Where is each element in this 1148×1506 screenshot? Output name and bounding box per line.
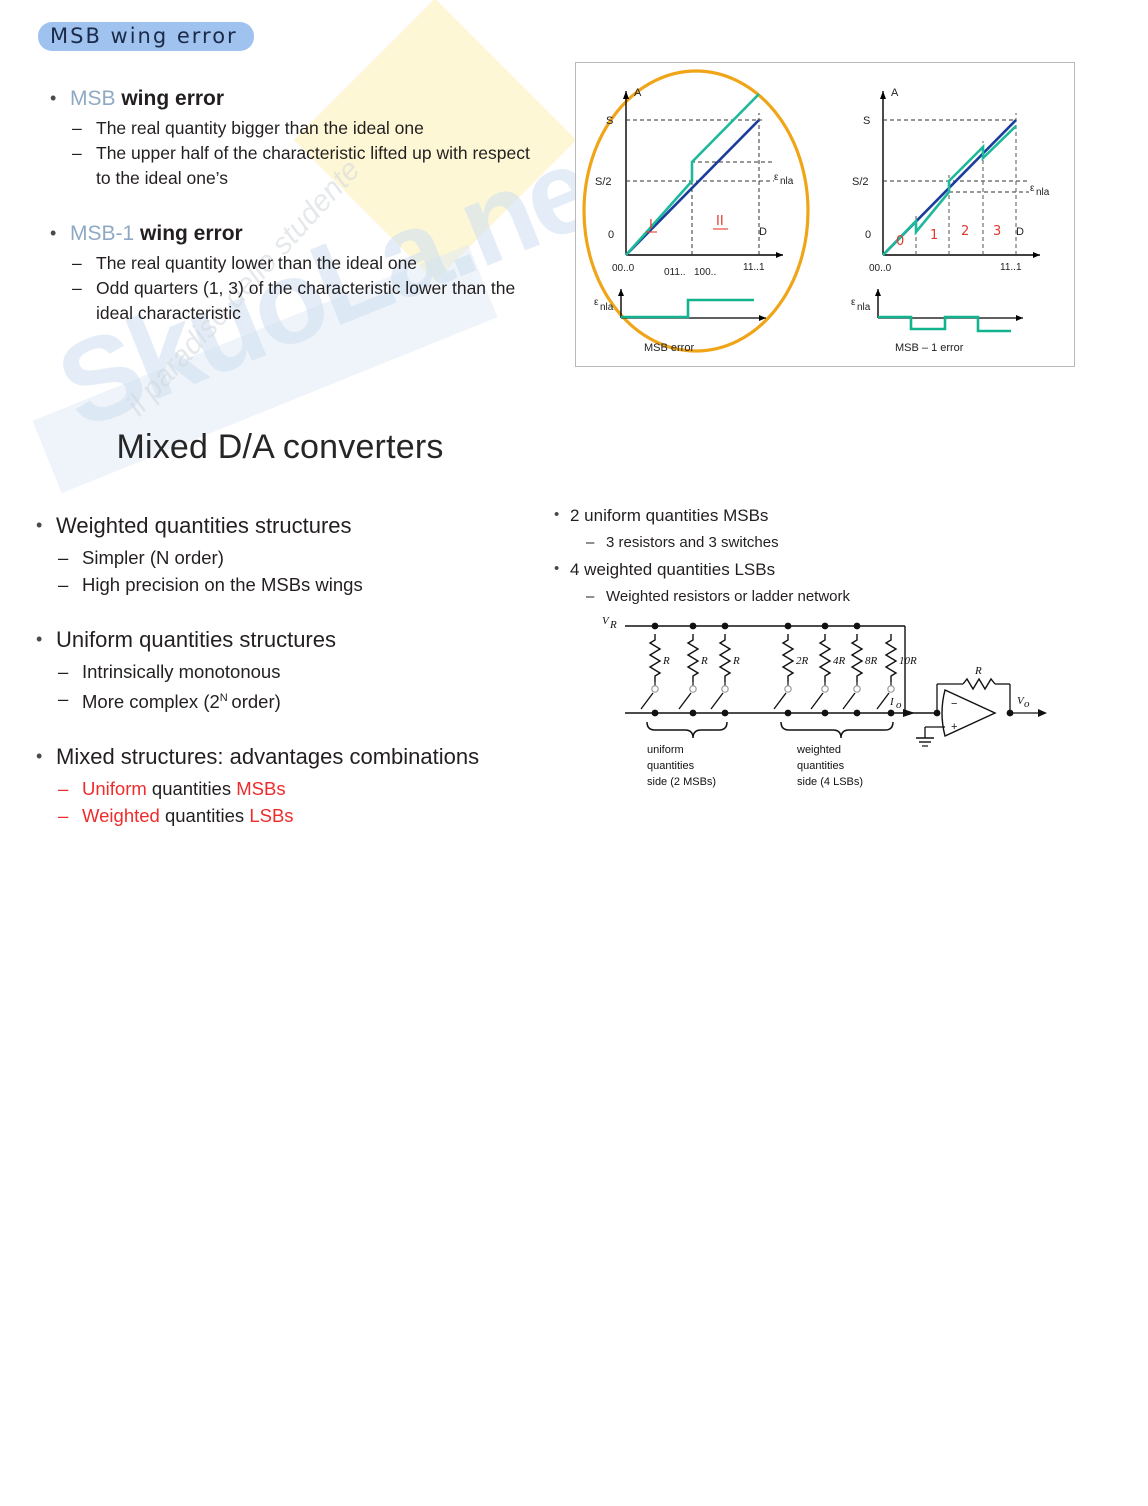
switch-blade[interactable] xyxy=(679,693,691,709)
ideal-line xyxy=(626,120,759,255)
node-dot xyxy=(652,710,659,717)
sublist: 3 resistors and 3 switches xyxy=(570,531,966,555)
annotation-quarter-3: 3 xyxy=(993,224,1001,239)
uniform-caption-line-2: quantities xyxy=(647,760,695,772)
resistor-weighted-2 xyxy=(820,634,830,682)
switch-contact[interactable] xyxy=(888,686,894,692)
list-item-weighted-lsbs: Weighted quantities LSBs xyxy=(56,802,560,829)
svg-text:ε: ε xyxy=(594,297,599,308)
resistor-weighted-3-label: 8R xyxy=(865,655,878,667)
annotation-quarter-2: II xyxy=(716,214,724,229)
bullet-msb1-sublist: The real quantity lower than the ideal o… xyxy=(70,251,544,326)
x-axis-arrow xyxy=(1033,252,1040,258)
word-lsbs: LSBs xyxy=(249,805,293,826)
switch-blade[interactable] xyxy=(774,693,786,709)
svg-text:ε: ε xyxy=(1030,183,1035,194)
bullet-msb-accent: MSB xyxy=(70,87,116,110)
weighted-branch-1: 2R xyxy=(774,623,809,717)
error-trace xyxy=(878,317,1011,331)
vout-subscript: o xyxy=(1024,698,1030,710)
resistor-weighted-4 xyxy=(886,634,896,682)
bullet-label: 2 uniform quantities MSBs xyxy=(570,506,768,525)
node-dot xyxy=(785,623,792,630)
left-content-column: Weighted quantities structures Simpler (… xyxy=(30,510,560,855)
uniform-branch-3: R xyxy=(711,623,740,717)
uniform-caption-line-1: uniform xyxy=(647,744,684,756)
error-y-arrow xyxy=(618,289,624,296)
bullet-msb1-rest: wing error xyxy=(134,222,243,245)
ytick-Shalf: S/2 xyxy=(852,176,869,188)
svg-text:nla: nla xyxy=(1036,187,1050,198)
highlight-ellipse xyxy=(584,71,808,351)
weighted-branch-2: 4R xyxy=(811,623,846,717)
resistor-uniform-3 xyxy=(720,634,730,682)
mixed-dac-circuit-diagram: V R I o R R R 2R xyxy=(585,612,1055,817)
node-dot xyxy=(690,623,697,630)
resistor-weighted-4-label: 10R xyxy=(899,655,917,667)
bullet-msb: MSB wing error The real quantity bigger … xyxy=(44,84,544,191)
bullet-msb-sublist: The real quantity bigger than the ideal … xyxy=(70,116,544,191)
xtick-2: 100.. xyxy=(694,267,716,278)
xtick-0: 00..0 xyxy=(869,263,892,274)
mixed-sublist: Uniform quantities MSBs Weighted quantit… xyxy=(56,775,560,829)
op-amp-inverting-input: − xyxy=(951,698,957,710)
xtick-1: 11..1 xyxy=(1000,262,1022,273)
bullet-4-weighted-lsbs: 4 weighted quantities LSBs Weighted resi… xyxy=(546,557,966,609)
charts-svg: A D S S/2 0 ε nla I II 00..0 011.. 100..… xyxy=(576,63,1074,366)
spacer xyxy=(44,193,544,219)
svg-text:nla: nla xyxy=(857,302,871,313)
switch-contact[interactable] xyxy=(652,686,658,692)
node-dot xyxy=(888,710,895,717)
weighted-caption-line-1: weighted xyxy=(796,744,841,756)
error-axis-label: ε nla xyxy=(851,297,871,313)
error-x-arrow xyxy=(1016,315,1023,321)
uniform-branch-2: R xyxy=(679,623,708,717)
resistor-weighted-1-label: 2R xyxy=(796,655,809,667)
svg-text:ε: ε xyxy=(851,297,856,308)
ytick-zero: 0 xyxy=(865,229,871,241)
word-quantities: quantities xyxy=(147,778,236,799)
switch-contact[interactable] xyxy=(822,686,828,692)
epsilon-nla-label-chart1: ε nla xyxy=(774,172,794,187)
bullet-msb1: MSB-1 wing error The real quantity lower… xyxy=(44,219,544,326)
error-subplot-msb1: ε nla MSB – 1 error xyxy=(851,289,1023,354)
uniform-branch-1: R xyxy=(641,623,670,717)
switch-contact[interactable] xyxy=(722,686,728,692)
bullet-label: Mixed structures: advantages combination… xyxy=(56,744,479,769)
vref-label: V R xyxy=(602,615,617,631)
list-item: Weighted resistors or ladder network xyxy=(570,585,966,609)
bullet-mixed-structures: Mixed structures: advantages combination… xyxy=(30,741,560,829)
ytick-S: S xyxy=(863,115,870,127)
iout-label: I o xyxy=(889,696,902,711)
node-dot xyxy=(822,710,829,717)
error-y-arrow xyxy=(875,289,881,296)
word-uniform: Uniform xyxy=(82,778,147,799)
y-axis-arrow xyxy=(880,91,886,99)
weighted-branch-3: 8R xyxy=(843,623,878,717)
list-item-uniform-msbs: Uniform quantities MSBs xyxy=(56,775,560,802)
error-subplot-msb: ε nla MSB error xyxy=(594,289,766,354)
resistor-uniform-1 xyxy=(650,634,660,682)
resistor-weighted-3 xyxy=(852,634,862,682)
weighted-caption-line-2: quantities xyxy=(797,760,845,772)
op-amp-triangle xyxy=(942,690,995,736)
list-item: 3 resistors and 3 switches xyxy=(570,531,966,555)
heading-highlight: MSB wing error xyxy=(38,22,254,51)
chart-caption-2: MSB – 1 error xyxy=(895,342,964,354)
vref-letter: V xyxy=(602,615,610,627)
xtick-3: 11..1 xyxy=(743,262,765,273)
circuit-svg: V R I o R R R 2R xyxy=(585,612,1055,817)
weighted-list: Weighted quantities structures Simpler (… xyxy=(30,510,560,598)
x-axis-label: D xyxy=(759,226,767,238)
annotation-quarter-2: 2 xyxy=(961,224,969,239)
group-weighted: Weighted quantities structures Simpler (… xyxy=(30,510,560,598)
resistor-uniform-2 xyxy=(688,634,698,682)
node-dot xyxy=(722,623,729,630)
error-trace xyxy=(621,300,754,317)
bullet-msb-rest: wing error xyxy=(116,87,225,110)
error-characteristics-figure: A D S S/2 0 ε nla I II 00..0 011.. 100..… xyxy=(575,62,1075,367)
current-arrow xyxy=(903,709,915,717)
resistor-uniform-2-label: R xyxy=(700,655,708,667)
iout-letter: I xyxy=(889,696,895,708)
right-list: 2 uniform quantities MSBs 3 resistors an… xyxy=(546,503,966,609)
annotation-quarter-0: 0 xyxy=(896,234,904,249)
resistor-uniform-3-label: R xyxy=(732,655,740,667)
handwritten-heading-text: MSB wing error xyxy=(50,24,238,48)
bullet-label: Weighted quantities structures xyxy=(56,513,352,538)
mixed-list: Mixed structures: advantages combination… xyxy=(30,741,560,829)
list-item: The real quantity lower than the ideal o… xyxy=(70,251,544,276)
chart-caption-1: MSB error xyxy=(644,342,694,354)
switch-blade[interactable] xyxy=(877,693,889,709)
group-uniform: Uniform quantities structures Intrinsica… xyxy=(30,624,560,715)
weighted-caption-line-3: side (4 LSBs) xyxy=(797,776,863,788)
node-dot xyxy=(854,623,861,630)
switch-blade[interactable] xyxy=(811,693,823,709)
list-item: The real quantity bigger than the ideal … xyxy=(70,116,544,141)
epsilon-nla-sub: nla xyxy=(780,176,794,187)
bullet-weighted-structures: Weighted quantities structures Simpler (… xyxy=(30,510,560,598)
vref-subscript: R xyxy=(609,619,617,631)
switch-blade[interactable] xyxy=(843,693,855,709)
y-axis-arrow xyxy=(623,91,629,99)
resistor-weighted-2-label: 4R xyxy=(833,655,846,667)
weighted-sublist: Simpler (N order) High precision on the … xyxy=(56,544,560,598)
vout-label: V o xyxy=(1017,695,1030,710)
list-item: The upper half of the characteristic lif… xyxy=(70,141,544,191)
resistor-weighted-1 xyxy=(783,634,793,682)
y-axis-label: A xyxy=(634,87,642,99)
list-item: Simpler (N order) xyxy=(56,544,560,571)
chart-msb1-error: A D S S/2 0 ε nla 0 1 2 3 00..0 11..1 xyxy=(851,87,1050,354)
weighted-caption: weighted quantities side (4 LSBs) xyxy=(796,744,863,788)
iout-subscript: o xyxy=(896,699,902,711)
list-item: High precision on the MSBs wings xyxy=(56,571,560,598)
word-quantities: quantities xyxy=(160,805,249,826)
list-item-complex: More complex (2N order) xyxy=(56,685,560,715)
page-title: Mixed D/A converters xyxy=(0,428,560,467)
handwritten-heading: MSB wing error xyxy=(38,22,254,51)
switch-contact[interactable] xyxy=(854,686,860,692)
ytick-S: S xyxy=(606,115,613,127)
x-axis-arrow xyxy=(776,252,783,258)
node-dot xyxy=(652,623,659,630)
word-msbs: MSBs xyxy=(236,778,285,799)
right-content-column: 2 uniform quantities MSBs 3 resistors an… xyxy=(546,503,966,611)
switch-blade[interactable] xyxy=(641,693,653,709)
bullet-label: 4 weighted quantities LSBs xyxy=(570,560,775,579)
list-item: Odd quarters (1, 3) of the characteristi… xyxy=(70,276,544,326)
bullet-uniform-structures: Uniform quantities structures Intrinsica… xyxy=(30,624,560,715)
resistor-feedback-label: R xyxy=(974,665,982,677)
xtick-0: 00..0 xyxy=(612,263,635,274)
brace-weighted xyxy=(781,722,893,738)
node-dot xyxy=(822,623,829,630)
annotation-quarter-1: I xyxy=(649,218,653,233)
bullet-2-uniform-msbs: 2 uniform quantities MSBs 3 resistors an… xyxy=(546,503,966,555)
xtick-1: 011.. xyxy=(664,267,686,278)
uniform-caption: uniform quantities side (2 MSBs) xyxy=(647,744,716,788)
ytick-Shalf: S/2 xyxy=(595,176,612,188)
superscript-n: N xyxy=(220,692,228,704)
epsilon-nla-label-chart2: ε nla xyxy=(1030,183,1050,198)
top-bullet-list: MSB wing error The real quantity bigger … xyxy=(44,84,544,326)
resistor-feedback xyxy=(963,679,995,689)
uniform-sublist: Intrinsically monotonous More complex (2… xyxy=(56,658,560,715)
node-dot xyxy=(690,710,697,717)
x-axis-label: D xyxy=(1016,226,1024,238)
brace-uniform xyxy=(647,722,727,738)
chart-msb-error: A D S S/2 0 ε nla I II 00..0 011.. 100..… xyxy=(584,71,808,354)
resistor-uniform-1-label: R xyxy=(662,655,670,667)
word-weighted: Weighted xyxy=(82,805,160,826)
switch-contact[interactable] xyxy=(690,686,696,692)
annotation-quarter-1: 1 xyxy=(930,228,938,243)
node-dot xyxy=(722,710,729,717)
switch-blade[interactable] xyxy=(711,693,723,709)
sublist: Weighted resistors or ladder network xyxy=(570,585,966,609)
bullet-msb1-accent: MSB-1 xyxy=(70,222,134,245)
ytick-zero: 0 xyxy=(608,229,614,241)
op-amp-noninverting-input: + xyxy=(951,721,957,733)
list-item: Intrinsically monotonous xyxy=(56,658,560,685)
node-dot xyxy=(854,710,861,717)
svg-text:ε: ε xyxy=(774,172,779,183)
op-amp: − + R V o xyxy=(916,665,1047,746)
uniform-caption-line-3: side (2 MSBs) xyxy=(647,776,716,788)
top-bullet-section: MSB wing error The real quantity bigger … xyxy=(44,84,544,328)
switch-contact[interactable] xyxy=(785,686,791,692)
uniform-list: Uniform quantities structures Intrinsica… xyxy=(30,624,560,715)
bullet-label: Uniform quantities structures xyxy=(56,627,336,652)
group-mixed: Mixed structures: advantages combination… xyxy=(30,741,560,829)
output-arrow xyxy=(1038,709,1047,717)
node-dot xyxy=(785,710,792,717)
y-axis-label: A xyxy=(891,87,899,99)
svg-text:nla: nla xyxy=(600,302,614,313)
